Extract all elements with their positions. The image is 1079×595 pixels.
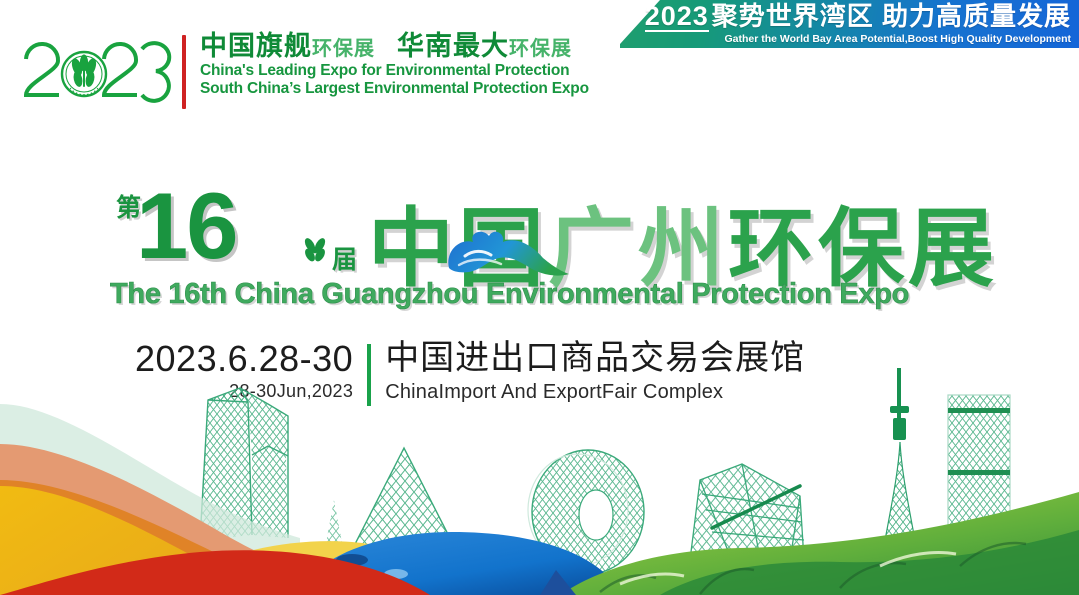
blue-wave-icon [443, 222, 569, 292]
ribbon-year: 2023 [645, 2, 709, 32]
leaf-seal-icon [62, 52, 106, 96]
leaf-emblem-icon [298, 232, 332, 266]
header-en-line1: China's Leading Expo for Environmental P… [200, 62, 589, 80]
header-line1-cn-bold: 中国旗舰 [200, 31, 312, 62]
title-number: 16 [136, 172, 237, 280]
logo-2023 [18, 33, 176, 105]
ribbon-headline-en: Gather the World Bay Area Potential,Boos… [724, 33, 1071, 47]
poster-root: 2023聚势世界湾区 助力高质量发展 Gather the World Bay … [0, 0, 1079, 595]
header-line2-cn-bold: 华南最大 [397, 31, 509, 62]
ribbon-headline-cn: 2023聚势世界湾区 助力高质量发展 [645, 2, 1071, 32]
title-suffix: 届 [332, 240, 357, 276]
top-ribbon: 2023聚势世界湾区 助力高质量发展 Gather the World Bay … [620, 0, 1079, 48]
header-cn-line: 中国旗舰环保展华南最大环保展 [200, 33, 589, 60]
header-divider [182, 35, 186, 109]
bottom-scene [0, 360, 1079, 595]
header: 中国旗舰环保展华南最大环保展 China's Leading Expo for … [18, 33, 589, 109]
canopy-building-wireframe [690, 464, 804, 560]
ribbon-text-group: 2023聚势世界湾区 助力高质量发展 Gather the World Bay … [620, 0, 1079, 48]
header-text-group: 中国旗舰环保展华南最大环保展 China's Leading Expo for … [200, 33, 589, 98]
header-line2-cn-light: 环保展 [509, 36, 572, 60]
header-en-line2: South China’s Largest Environmental Prot… [200, 80, 589, 98]
header-line1-cn-light: 环保展 [312, 36, 375, 60]
ribbon-headline-cn-text: 聚势世界湾区 助力高质量发展 [712, 1, 1071, 31]
